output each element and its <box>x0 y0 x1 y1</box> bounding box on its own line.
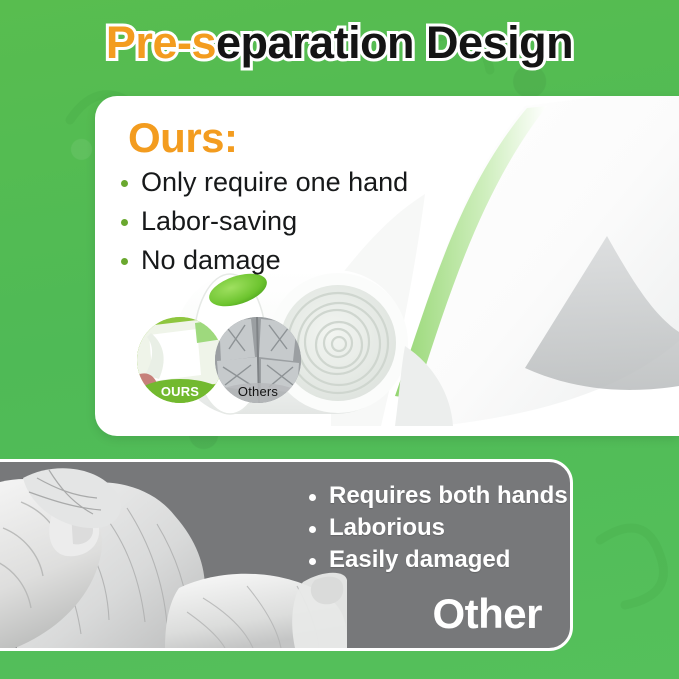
inset-others: Others <box>215 317 301 403</box>
hands-pulling-bag-photo <box>0 462 347 648</box>
ours-card: Ours: Only require one hand Labor-saving… <box>95 96 679 436</box>
list-item: Requires both hands <box>307 480 568 512</box>
inset-ours-caption: OURS <box>137 384 223 399</box>
ours-benefit-list: Only require one hand Labor-saving No da… <box>117 164 408 281</box>
inset-ours: OURS <box>137 317 223 403</box>
list-item: Easily damaged <box>307 544 568 576</box>
list-item: Laborious <box>307 512 568 544</box>
other-label: Other <box>432 590 542 638</box>
page-title-rest: eparation Design <box>216 17 573 68</box>
infographic-root: Pre-separation Design <box>0 0 679 679</box>
other-drawback-list: Requires both hands Laborious Easily dam… <box>307 480 568 576</box>
list-item: Labor-saving <box>117 203 408 239</box>
page-title: Pre-separation Design <box>0 14 679 72</box>
page-title-accent: Pre-s <box>106 17 216 68</box>
list-item: No damage <box>117 242 408 278</box>
inset-others-caption: Others <box>215 384 301 399</box>
ours-heading: Ours: <box>128 114 238 162</box>
other-panel: Requires both hands Laborious Easily dam… <box>0 459 573 651</box>
list-item: Only require one hand <box>117 164 408 200</box>
